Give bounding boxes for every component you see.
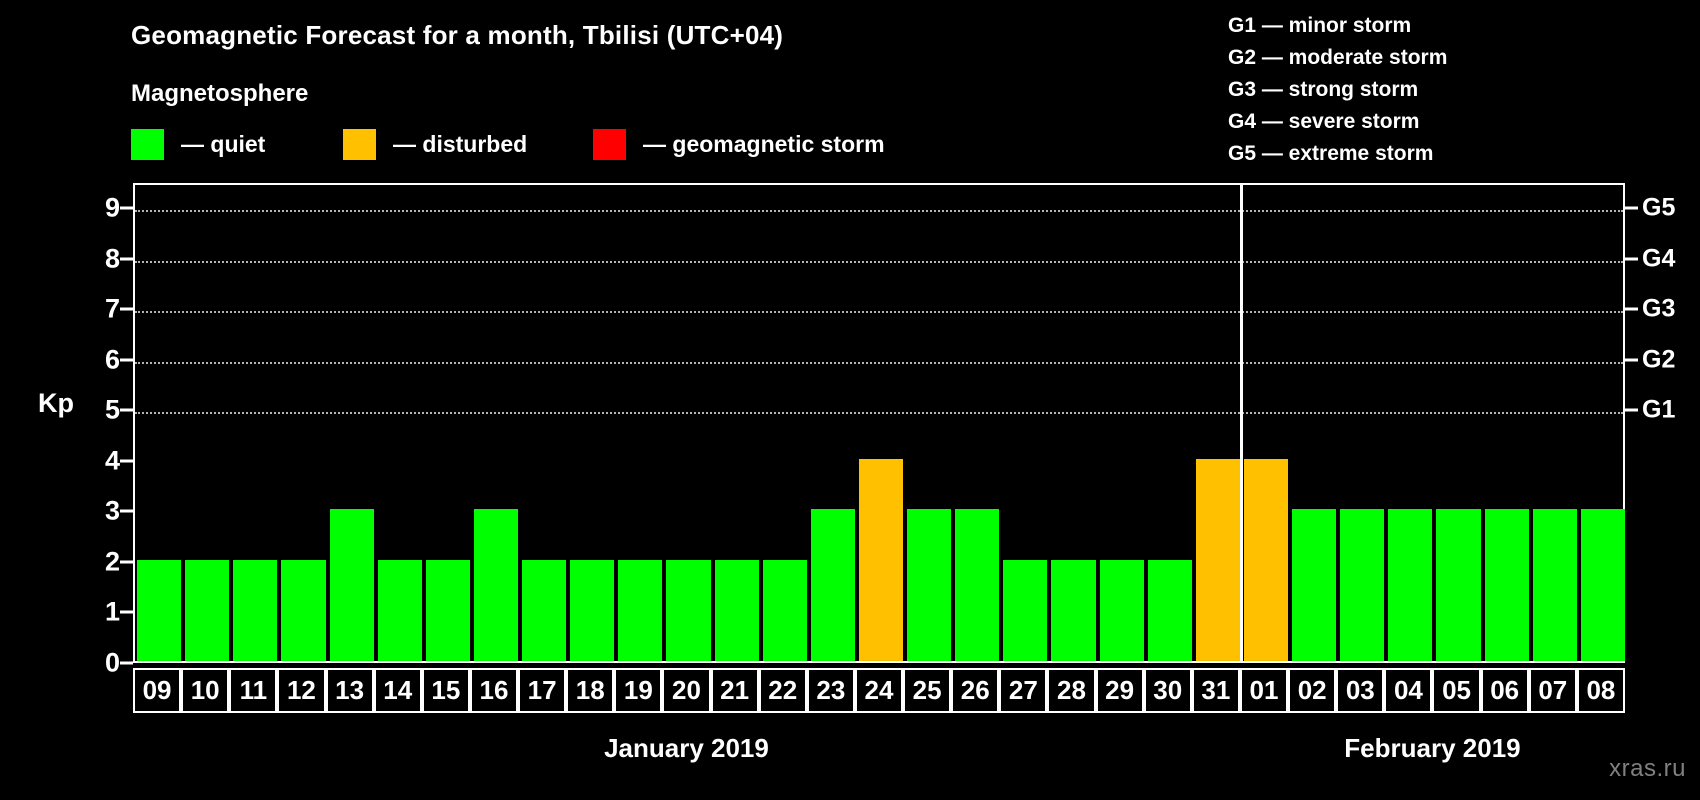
x-axis-date-16[interactable]: 16: [470, 668, 518, 713]
y-tick-label-0: 0: [60, 648, 120, 679]
x-axis-date-29[interactable]: 29: [1096, 668, 1144, 713]
legend-label-2: — geomagnetic storm: [643, 131, 885, 158]
gridline-kp-7: [135, 311, 1623, 313]
x-axis-date-15[interactable]: 15: [422, 668, 470, 713]
y-tick-mark-6: [120, 358, 133, 361]
x-axis-date-25[interactable]: 25: [903, 668, 951, 713]
x-axis-date-09[interactable]: 09: [133, 668, 181, 713]
y-tick-label-6: 6: [60, 344, 120, 375]
gridline-kp-6: [135, 362, 1623, 364]
x-axis-date-19[interactable]: 19: [614, 668, 662, 713]
x-axis-date-01[interactable]: 01: [1240, 668, 1288, 713]
month-label-february: February 2019: [1344, 733, 1520, 764]
quiet-swatch: [131, 129, 164, 160]
bar-11[interactable]: [233, 560, 277, 661]
plot-area: [133, 183, 1625, 663]
x-axis-date-06[interactable]: 06: [1481, 668, 1529, 713]
x-axis-date-14[interactable]: 14: [374, 668, 422, 713]
bar-28[interactable]: [1051, 560, 1095, 661]
y-tick-label-3: 3: [60, 496, 120, 527]
x-axis-date-30[interactable]: 30: [1144, 668, 1192, 713]
x-axis-date-05[interactable]: 05: [1432, 668, 1480, 713]
y-tick-mark-2: [120, 560, 133, 563]
y-tick-mark-5: [120, 409, 133, 412]
y-tick-label-9: 9: [60, 193, 120, 224]
bar-20[interactable]: [666, 560, 710, 661]
x-axis-date-10[interactable]: 10: [181, 668, 229, 713]
bar-07[interactable]: [1533, 509, 1577, 661]
bar-29[interactable]: [1100, 560, 1144, 661]
y-tick-mark-1: [120, 611, 133, 614]
g-tick-label-G5: G5: [1642, 194, 1675, 223]
g-scale-legend: G1 — minor stormG2 — moderate stormG3 — …: [1228, 10, 1447, 170]
y-tick-label-8: 8: [60, 243, 120, 274]
bar-22[interactable]: [763, 560, 807, 661]
month-label-january: January 2019: [604, 733, 769, 764]
storm-swatch: [593, 129, 626, 160]
y-tick-label-4: 4: [60, 445, 120, 476]
bar-12[interactable]: [281, 560, 325, 661]
x-axis-date-04[interactable]: 04: [1384, 668, 1432, 713]
legend-item-2: — geomagnetic storm: [593, 128, 885, 160]
bar-06[interactable]: [1485, 509, 1529, 661]
g-tick-mark-G3: [1625, 308, 1638, 311]
bar-24[interactable]: [859, 459, 903, 661]
x-axis-date-31[interactable]: 31: [1192, 668, 1240, 713]
bar-15[interactable]: [426, 560, 470, 661]
chart-root: Geomagnetic Forecast for a month, Tbilis…: [0, 0, 1700, 800]
bar-25[interactable]: [907, 509, 951, 661]
x-axis-date-26[interactable]: 26: [951, 668, 999, 713]
x-axis-date-12[interactable]: 12: [277, 668, 325, 713]
y-tick-mark-7: [120, 308, 133, 311]
bar-19[interactable]: [618, 560, 662, 661]
bar-18[interactable]: [570, 560, 614, 661]
g-scale-item-1: G1 — minor storm: [1228, 10, 1447, 42]
bar-09[interactable]: [137, 560, 181, 661]
bar-23[interactable]: [811, 509, 855, 661]
g-tick-mark-G2: [1625, 358, 1638, 361]
x-axis-date-28[interactable]: 28: [1047, 668, 1095, 713]
g-scale-item-5: G5 — extreme storm: [1228, 138, 1447, 170]
bar-17[interactable]: [522, 560, 566, 661]
disturbed-swatch: [343, 129, 376, 160]
x-axis-date-02[interactable]: 02: [1288, 668, 1336, 713]
x-axis-date-21[interactable]: 21: [711, 668, 759, 713]
x-axis-date-18[interactable]: 18: [566, 668, 614, 713]
legend-label-0: — quiet: [181, 131, 265, 158]
y-tick-label-7: 7: [60, 294, 120, 325]
x-axis-date-17[interactable]: 17: [518, 668, 566, 713]
bar-26[interactable]: [955, 509, 999, 661]
watermark: xras.ru: [1609, 755, 1686, 783]
g-tick-mark-G1: [1625, 409, 1638, 412]
legend-item-0: — quiet: [131, 128, 265, 160]
bar-03[interactable]: [1340, 509, 1384, 661]
bar-10[interactable]: [185, 560, 229, 661]
month-separator-line: [1240, 185, 1243, 661]
y-tick-label-2: 2: [60, 546, 120, 577]
gridline-kp-9: [135, 210, 1623, 212]
x-axis-date-20[interactable]: 20: [662, 668, 710, 713]
bar-31[interactable]: [1196, 459, 1240, 661]
y-tick-mark-9: [120, 207, 133, 210]
bar-04[interactable]: [1388, 509, 1432, 661]
bar-30[interactable]: [1148, 560, 1192, 661]
x-axis-date-27[interactable]: 27: [999, 668, 1047, 713]
y-tick-label-5: 5: [60, 395, 120, 426]
bar-16[interactable]: [474, 509, 518, 661]
bar-13[interactable]: [330, 509, 374, 661]
bar-27[interactable]: [1003, 560, 1047, 661]
y-tick-mark-0: [120, 662, 133, 665]
x-axis-date-03[interactable]: 03: [1336, 668, 1384, 713]
g-scale-item-4: G4 — severe storm: [1228, 106, 1447, 138]
bar-02[interactable]: [1292, 509, 1336, 661]
x-axis-date-23[interactable]: 23: [807, 668, 855, 713]
g-scale-item-2: G2 — moderate storm: [1228, 42, 1447, 74]
bar-05[interactable]: [1436, 509, 1480, 661]
y-tick-mark-3: [120, 510, 133, 513]
bar-21[interactable]: [715, 560, 759, 661]
g-scale-item-3: G3 — strong storm: [1228, 74, 1447, 106]
x-axis-date-13[interactable]: 13: [326, 668, 374, 713]
g-tick-mark-G5: [1625, 207, 1638, 210]
g-tick-label-G1: G1: [1642, 396, 1675, 425]
x-axis-date-07[interactable]: 07: [1529, 668, 1577, 713]
gridline-kp-8: [135, 261, 1623, 263]
y-tick-label-1: 1: [60, 597, 120, 628]
x-axis-date-11[interactable]: 11: [229, 668, 277, 713]
page-title: Geomagnetic Forecast for a month, Tbilis…: [131, 20, 783, 51]
bar-08[interactable]: [1581, 509, 1625, 661]
gridline-kp-5: [135, 412, 1623, 414]
bar-01[interactable]: [1244, 459, 1288, 661]
g-tick-label-G3: G3: [1642, 295, 1675, 324]
chart-subtitle: Magnetosphere: [131, 80, 308, 108]
g-tick-label-G2: G2: [1642, 345, 1675, 374]
g-tick-mark-G4: [1625, 257, 1638, 260]
y-tick-mark-8: [120, 257, 133, 260]
legend-item-1: — disturbed: [343, 128, 527, 160]
x-axis-date-08[interactable]: 08: [1577, 668, 1625, 713]
x-axis-date-24[interactable]: 24: [855, 668, 903, 713]
legend-label-1: — disturbed: [393, 131, 527, 158]
bar-14[interactable]: [378, 560, 422, 661]
x-axis-date-22[interactable]: 22: [759, 668, 807, 713]
g-tick-label-G4: G4: [1642, 244, 1675, 273]
bars-container: [135, 185, 1623, 661]
y-tick-mark-4: [120, 459, 133, 462]
